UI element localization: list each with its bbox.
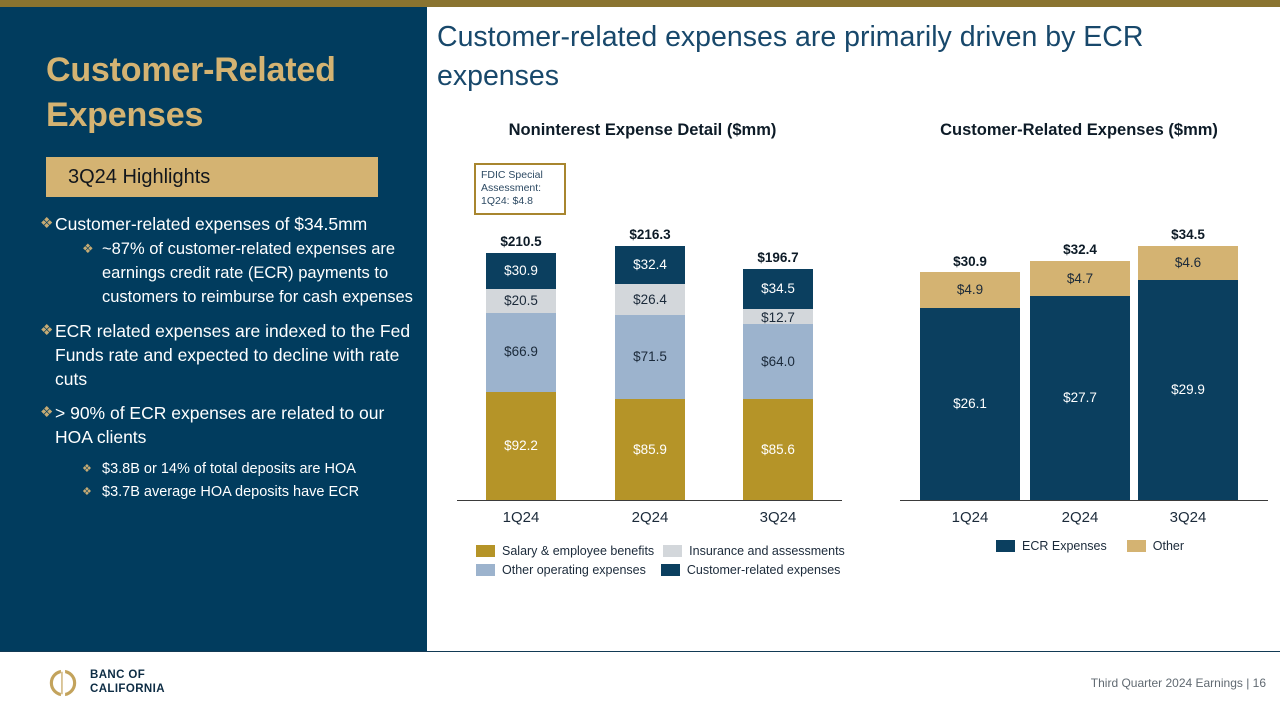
bullet-text: $3.8B or 14% of total deposits are HOA	[102, 458, 356, 481]
bar-segment[interactable]: $92.2	[486, 392, 556, 500]
bar-total-label: $34.5	[1138, 227, 1238, 242]
stacked-bar[interactable]: $26.1$4.9	[920, 273, 1020, 500]
legend-color-swatch	[661, 564, 680, 576]
x-axis-tick-label: 3Q24	[1126, 509, 1250, 526]
highlights-banner-label: 3Q24 Highlights	[68, 165, 210, 189]
stacked-bar[interactable]: $92.2$66.9$20.5$30.9	[486, 253, 556, 500]
bullet-diamond-icon: ❖	[40, 212, 55, 236]
bar-segment[interactable]: $64.0	[743, 324, 813, 399]
x-axis-line	[457, 500, 842, 501]
bar-segment[interactable]: $71.5	[615, 315, 685, 399]
bar-segment-label: $4.9	[920, 282, 1020, 297]
legend-label: Insurance and assessments	[689, 544, 845, 558]
legend-label: Salary & employee benefits	[502, 544, 654, 558]
top-accent-bar	[0, 0, 1280, 7]
bar-segment[interactable]: $4.9	[920, 272, 1020, 308]
bar-segment-label: $30.9	[486, 263, 556, 278]
bar-total-label: $196.7	[743, 250, 813, 265]
highlights-bullet-list: ❖Customer-related expenses of $34.5mm❖~8…	[40, 212, 415, 504]
legend-item[interactable]: ECR Expenses	[996, 539, 1107, 553]
bullet-text: Customer-related expenses of $34.5mm	[55, 212, 367, 236]
legend-item[interactable]: Other	[1127, 539, 1184, 553]
highlights-banner: 3Q24 Highlights	[46, 157, 378, 197]
bar-segment-label: $4.7	[1030, 271, 1130, 286]
legend-color-swatch	[663, 545, 682, 557]
bar-segment-label: $92.2	[486, 438, 556, 453]
logo-line-1: BANC OF	[90, 669, 165, 683]
bar-segment[interactable]: $30.9	[486, 253, 556, 289]
bar-total-label: $32.4	[1030, 242, 1130, 257]
x-axis-line	[900, 500, 1268, 501]
slide-headline: Customer-related expenses are primarily …	[437, 18, 1237, 96]
legend-item[interactable]: Other operating expenses	[476, 563, 646, 577]
right-chart-title: Customer-Related Expenses ($mm)	[890, 121, 1268, 140]
bar-segment[interactable]: $29.9	[1138, 280, 1238, 500]
bullet-diamond-icon: ❖	[82, 481, 102, 504]
bullet-item: ❖> 90% of ECR expenses are related to ou…	[40, 401, 415, 449]
bar-segment[interactable]: $4.6	[1138, 246, 1238, 280]
chart-legend-row: Other operating expensesCustomer-related…	[476, 563, 840, 577]
legend-label: Other operating expenses	[502, 563, 646, 577]
bar-segment-label: $34.5	[743, 281, 813, 296]
bar-segment[interactable]: $26.4	[615, 284, 685, 315]
bar-segment-label: $85.6	[743, 442, 813, 457]
noninterest-expense-detail-chart: $92.2$66.9$20.5$30.9$210.51Q24$85.9$71.5…	[457, 150, 842, 280]
bar-total-label: $210.5	[486, 234, 556, 249]
bar-segment-label: $20.5	[486, 293, 556, 308]
stacked-bar[interactable]: $29.9$4.6	[1138, 246, 1238, 500]
bullet-item: ❖~87% of customer-related expenses are e…	[82, 237, 415, 309]
bar-segment[interactable]: $66.9	[486, 313, 556, 392]
bar-segment-label: $26.1	[920, 396, 1020, 411]
bullet-diamond-icon: ❖	[40, 319, 55, 343]
legend-label: Customer-related expenses	[687, 563, 841, 577]
bullet-item: ❖$3.8B or 14% of total deposits are HOA	[82, 458, 415, 481]
bullet-diamond-icon: ❖	[82, 458, 102, 481]
legend-color-swatch	[996, 540, 1015, 552]
banc-of-california-logo: BANC OF CALIFORNIA	[48, 666, 278, 706]
bar-segment-label: $71.5	[615, 349, 685, 364]
bar-total-label: $30.9	[920, 254, 1020, 269]
bar-total-label: $216.3	[615, 227, 685, 242]
legend-label: Other	[1153, 539, 1184, 553]
bar-segment-label: $12.7	[743, 310, 813, 325]
x-axis-tick-label: 3Q24	[731, 509, 825, 526]
logo-ring-icon	[48, 668, 78, 698]
bar-segment[interactable]: $32.4	[615, 246, 685, 284]
customer-related-expenses-chart: $26.1$4.9$30.91Q24$27.7$4.7$32.42Q24$29.…	[900, 150, 1268, 280]
bar-segment[interactable]: $4.7	[1030, 261, 1130, 296]
bar-segment[interactable]: $12.7	[743, 309, 813, 324]
bullet-item: ❖ECR related expenses are indexed to the…	[40, 319, 415, 391]
bar-segment[interactable]: $34.5	[743, 269, 813, 310]
bar-segment[interactable]: $27.7	[1030, 296, 1130, 500]
bullet-text: > 90% of ECR expenses are related to our…	[55, 401, 415, 449]
logo-wordmark: BANC OF CALIFORNIA	[90, 669, 165, 696]
left-sidebar: Customer-Related Expenses 3Q24 Highlight…	[0, 7, 427, 651]
bullet-text: ~87% of customer-related expenses are ea…	[102, 237, 415, 309]
bar-segment-label: $26.4	[615, 292, 685, 307]
bar-segment-label: $66.9	[486, 344, 556, 359]
legend-color-swatch	[1127, 540, 1146, 552]
page-title: Customer-Related Expenses	[46, 48, 406, 138]
bar-segment-label: $85.9	[615, 442, 685, 457]
legend-color-swatch	[476, 545, 495, 557]
bar-segment[interactable]: $85.6	[743, 399, 813, 500]
bar-segment[interactable]: $20.5	[486, 289, 556, 313]
logo-line-2: CALIFORNIA	[90, 683, 165, 697]
x-axis-tick-label: 1Q24	[908, 509, 1032, 526]
bullet-item: ❖$3.7B average HOA deposits have ECR	[82, 481, 415, 504]
stacked-bar[interactable]: $85.6$64.0$12.7$34.5	[743, 269, 813, 500]
bullet-text: $3.7B average HOA deposits have ECR	[102, 481, 359, 504]
left-chart-title: Noninterest Expense Detail ($mm)	[450, 121, 835, 140]
bullet-item: ❖Customer-related expenses of $34.5mm	[40, 212, 415, 236]
bar-segment-label: $29.9	[1138, 382, 1238, 397]
legend-item[interactable]: Salary & employee benefits	[476, 544, 654, 558]
bullet-text: ECR related expenses are indexed to the …	[55, 319, 415, 391]
legend-item[interactable]: Insurance and assessments	[663, 544, 845, 558]
legend-color-swatch	[476, 564, 495, 576]
stacked-bar[interactable]: $27.7$4.7	[1030, 261, 1130, 500]
stacked-bar[interactable]: $85.9$71.5$26.4$32.4	[615, 246, 685, 500]
bar-segment[interactable]: $26.1	[920, 308, 1020, 500]
bar-segment-label: $32.4	[615, 257, 685, 272]
bar-segment-label: $27.7	[1030, 390, 1130, 405]
chart-legend-row: ECR ExpensesOther	[996, 539, 1184, 553]
bar-segment-label: $4.6	[1138, 255, 1238, 270]
x-axis-tick-label: 2Q24	[603, 509, 697, 526]
legend-label: ECR Expenses	[1022, 539, 1107, 553]
bar-segment[interactable]: $85.9	[615, 399, 685, 500]
footer-meta: Third Quarter 2024 Earnings | 16	[1091, 676, 1266, 690]
legend-item[interactable]: Customer-related expenses	[661, 563, 841, 577]
x-axis-tick-label: 2Q24	[1018, 509, 1142, 526]
footer-divider	[0, 651, 1280, 652]
bullet-diamond-icon: ❖	[40, 401, 55, 425]
chart-legend-row: Salary & employee benefitsInsurance and …	[476, 544, 845, 558]
bullet-diamond-icon: ❖	[82, 237, 102, 261]
bar-segment-label: $64.0	[743, 354, 813, 369]
x-axis-tick-label: 1Q24	[474, 509, 568, 526]
